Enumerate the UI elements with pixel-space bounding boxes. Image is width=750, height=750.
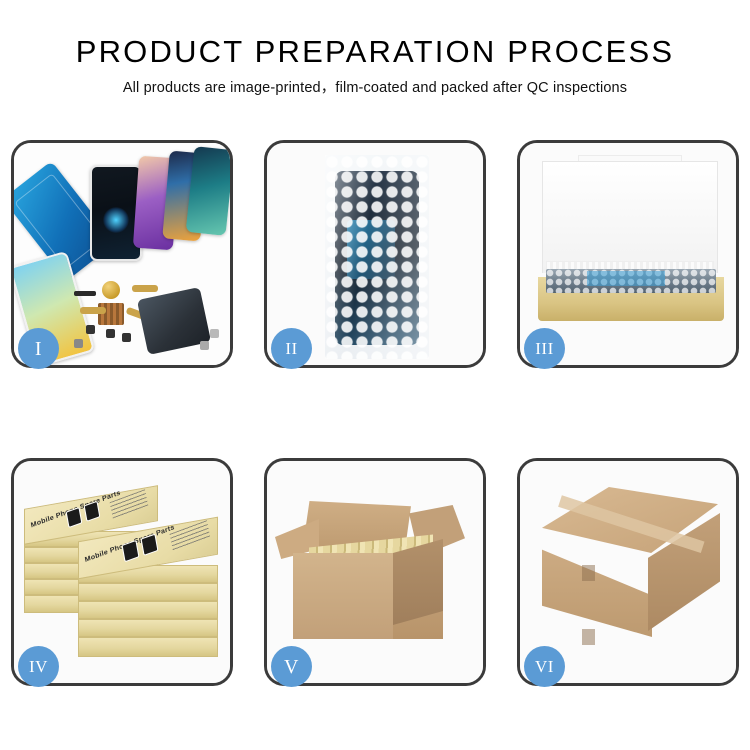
spare-part: [86, 325, 95, 334]
teal-phone: [186, 146, 230, 236]
spare-part: [74, 339, 83, 348]
step-panel-5[interactable]: V: [264, 458, 486, 686]
spare-part: [74, 291, 96, 296]
box-lid: [542, 161, 718, 273]
step-badge-5: V: [271, 646, 312, 687]
spare-part: [210, 329, 219, 338]
stacked-box: [78, 583, 218, 601]
step-panel-4[interactable]: Mobile Phone Spare Parts Mobile Phone Sp…: [11, 458, 233, 686]
plastic-sheen: [325, 155, 429, 359]
spare-part: [80, 307, 106, 314]
stacked-box: [78, 637, 218, 657]
process-steps-grid: I II III: [11, 140, 739, 718]
spare-part: [132, 285, 158, 292]
step-panel-3[interactable]: III: [517, 140, 739, 368]
box-product-photo: [141, 534, 159, 556]
spare-part: [122, 333, 131, 342]
step-panel-1[interactable]: I: [11, 140, 233, 368]
stacked-box: [78, 619, 218, 637]
box-product-photo: [84, 501, 101, 522]
bubble-texture: [546, 269, 716, 293]
spare-part: [102, 281, 120, 299]
box-spec-text: [170, 520, 211, 552]
step-badge-6: VI: [524, 646, 565, 687]
carton-tab: [582, 629, 595, 645]
box-product-photo: [122, 540, 140, 562]
box-product-photo: [66, 507, 83, 528]
stacked-box: [78, 601, 218, 619]
page-subtitle: All products are image-printed，film-coat…: [0, 81, 750, 96]
page-title: PRODUCT PREPARATION PROCESS: [0, 36, 750, 67]
packed-product: [546, 269, 716, 293]
step-badge-4: IV: [18, 646, 59, 687]
spare-part: [106, 329, 115, 338]
header: PRODUCT PREPARATION PROCESS All products…: [0, 0, 750, 96]
bubble-wrap-sleeve: [325, 155, 429, 359]
step-badge-3: III: [524, 328, 565, 369]
carton-front: [293, 553, 393, 639]
step-badge-2: II: [271, 328, 312, 369]
step-panel-6[interactable]: VI: [517, 458, 739, 686]
step-panel-2[interactable]: II: [264, 140, 486, 368]
spare-part: [200, 341, 209, 350]
carton-side: [393, 539, 443, 625]
box-stack: Mobile Phone Spare Parts Mobile Phone Sp…: [20, 475, 230, 671]
step-badge-1: I: [18, 328, 59, 369]
carton-tab: [582, 565, 595, 581]
